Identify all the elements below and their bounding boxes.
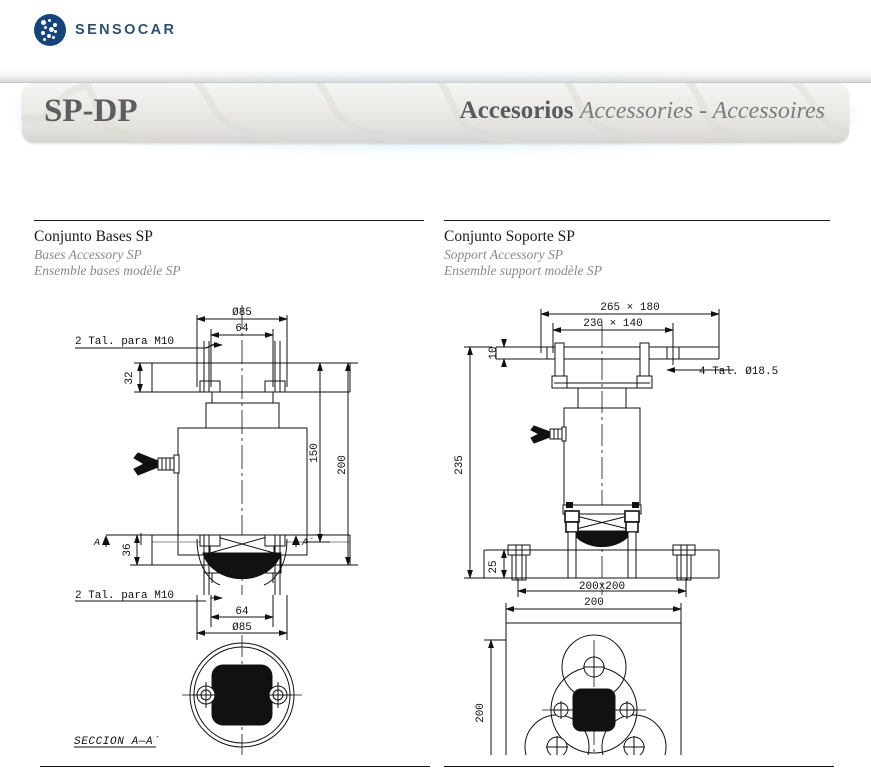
banner-subtitle: Accesorios Accessories - Accessoires <box>460 97 825 125</box>
left-dim-36: 36 <box>122 543 134 556</box>
right-dim-total-height: 235 <box>454 455 466 475</box>
right-section-sub-fr: Ensemble support modèle SP <box>444 263 602 279</box>
right-dim-plate-outer: 265 × 180 <box>600 302 659 314</box>
banner-title-es: Accesorios <box>460 97 574 124</box>
left-section-mark-a: A <box>93 538 100 549</box>
right-dim-base-thk: 25 <box>488 560 500 573</box>
right-dim-plan-width: 200 <box>584 597 604 609</box>
right-note-holes: 4 Tal. Ø18.5 <box>699 366 778 378</box>
left-dim-dia-top: Ø85 <box>232 307 252 319</box>
right-section-title: Conjunto Soporte SP <box>444 228 575 246</box>
left-bottom-rule <box>40 766 430 767</box>
right-dim-plate-holes: 230 × 140 <box>583 318 642 330</box>
right-bottom-rule <box>444 766 834 767</box>
model-title: SP-DP <box>44 93 138 130</box>
conjunto-soporte-sp-drawing: 265 × 180 230 × 140 10 4 Tal. Ø18.5 235 … <box>444 295 844 755</box>
left-note-holes-bottom: 2 Tal. para M10 <box>75 590 174 602</box>
left-dim-plate-thk: 32 <box>124 371 136 384</box>
right-dim-base-plate: 200x200 <box>579 581 625 593</box>
left-section-sub-en: Bases Accessory SP <box>34 247 142 263</box>
banner-title-translations: Accessories - Accessoires <box>580 98 825 124</box>
left-section-caption: SECCION A—A´ <box>74 735 160 748</box>
brand-name: SENSOCAR <box>75 22 176 38</box>
right-section-sub-en: Sopport Accessory SP <box>444 247 563 263</box>
left-section-rule <box>34 220 424 221</box>
left-dim-width-bottom: 64 <box>235 606 249 618</box>
left-section-mark-a-prime: A´ <box>301 536 314 549</box>
right-section-rule <box>444 220 830 221</box>
left-dim-200: 200 <box>337 455 349 475</box>
logo-bar: SENSOCAR <box>0 0 871 68</box>
left-note-holes-top: 2 Tal. para M10 <box>75 336 174 348</box>
left-dim-dia-bottom: Ø85 <box>232 622 252 634</box>
left-dim-width-top: 64 <box>235 323 249 335</box>
brand-logo[interactable]: SENSOCAR <box>34 14 176 46</box>
sensocar-molecule-logo-icon <box>34 14 66 46</box>
right-dim-plate-thk: 10 <box>488 346 500 359</box>
left-dim-150: 150 <box>309 443 321 463</box>
page-banner: SP-DP Accesorios Accessories - Accessoir… <box>22 83 849 143</box>
left-section-title: Conjunto Bases SP <box>34 228 153 246</box>
right-dim-plan-height: 200 <box>475 703 487 723</box>
conjunto-bases-sp-drawing: Ø85 64 2 Tal. para M10 32 150 200 36 A A… <box>34 295 434 755</box>
left-section-sub-fr: Ensemble bases modèle SP <box>34 263 181 279</box>
